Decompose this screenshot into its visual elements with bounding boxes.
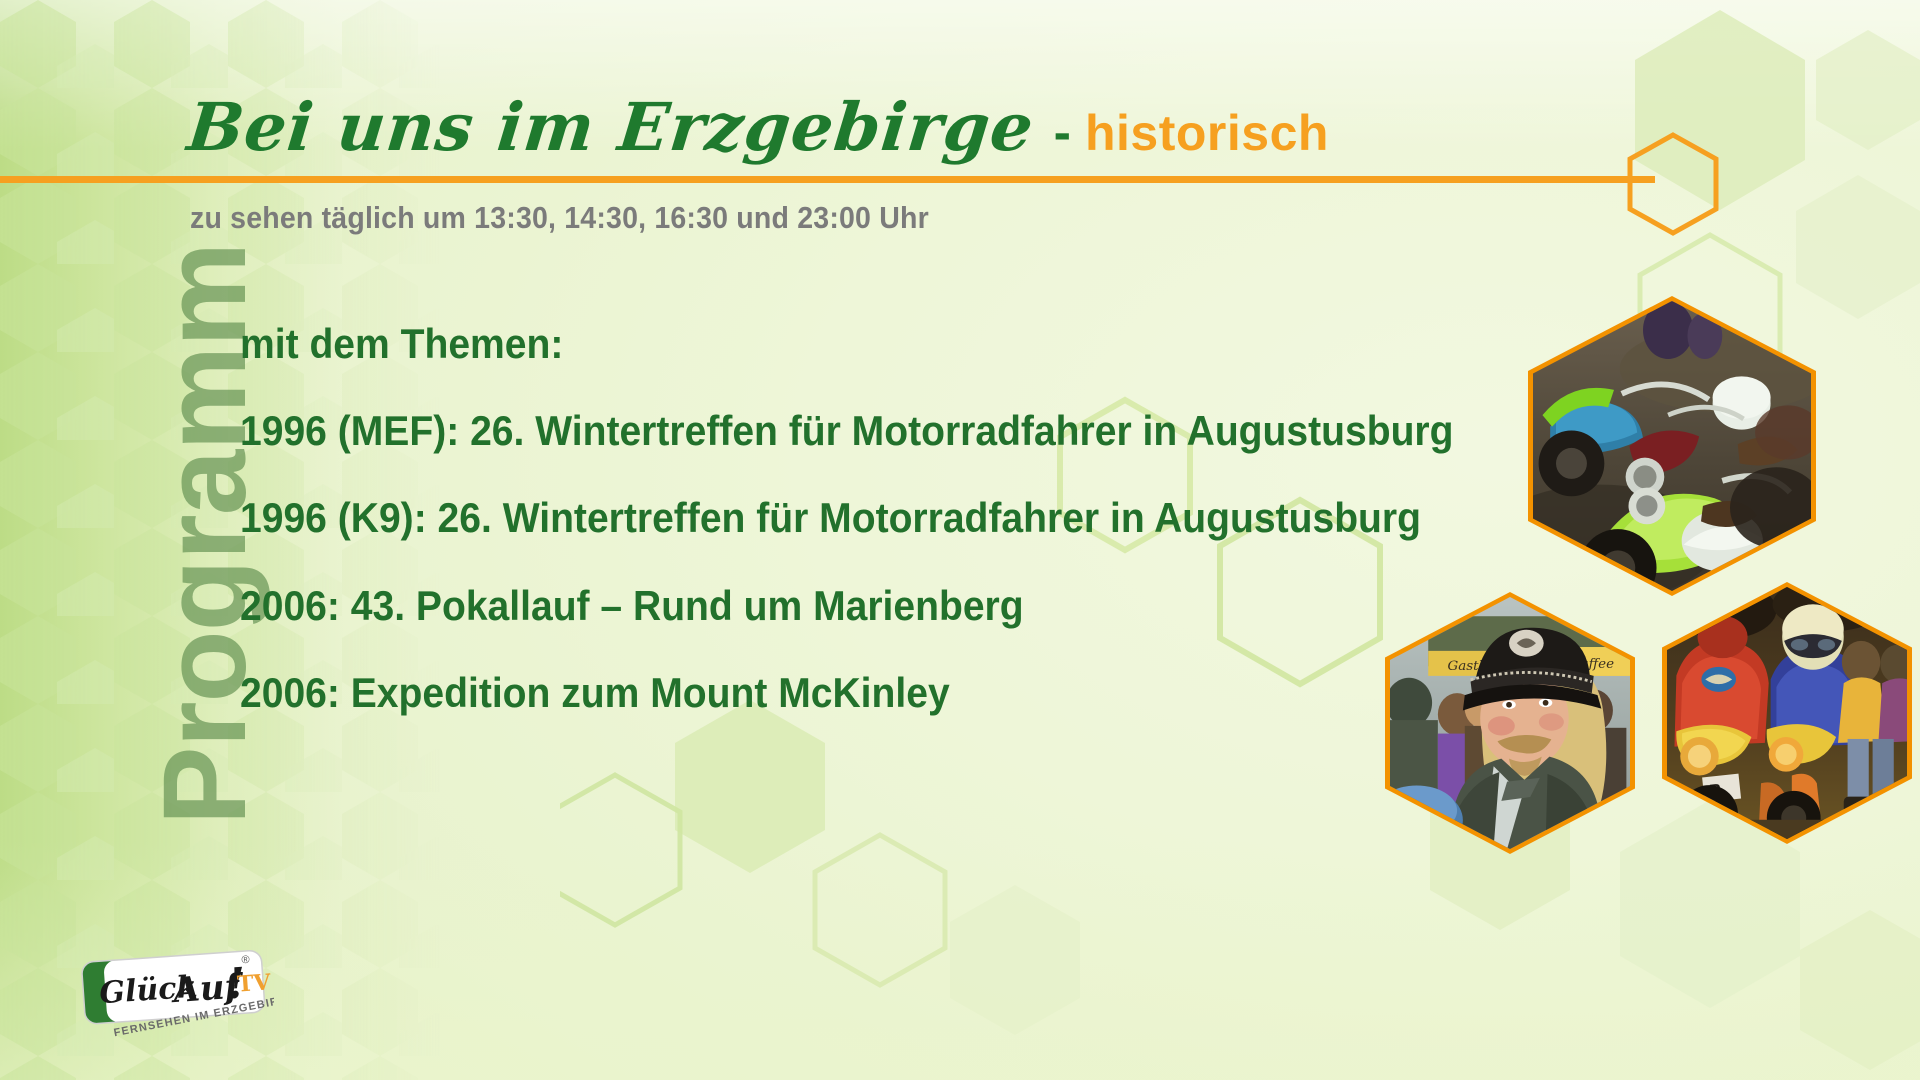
- topics-block: mit dem Themen: 1996 (MEF): 26. Wintertr…: [240, 320, 1545, 715]
- page-title: Bei uns im Erzgebirge - historisch: [188, 94, 1329, 160]
- broadcast-times-subtitle: zu sehen täglich um 13:30, 14:30, 16:30 …: [190, 200, 929, 236]
- glueckauf-tv-logo: Glück Auf ! TV ® FERNSEHEN IM ERZGEBIRGE: [78, 950, 274, 1046]
- header-hexagon-accent: [1627, 132, 1719, 236]
- logo-tv: TV: [236, 969, 272, 997]
- page-title-accent: historisch: [1085, 108, 1329, 158]
- header-divider-rule: [0, 176, 1655, 183]
- topic-item: 2006: 43. Pokallauf – Rund um Marienberg: [240, 583, 1454, 628]
- topic-item: 1996 (K9): 26. Wintertreffen für Motorra…: [240, 495, 1454, 540]
- background-bottom-gradient: [0, 840, 1920, 1080]
- vintage-mopeds-photo: [1528, 296, 1816, 596]
- photo-inner: [1533, 301, 1811, 591]
- topic-item: 2006: Expedition zum Mount McKinley: [240, 670, 1454, 715]
- topics-intro: mit dem Themen:: [240, 320, 1454, 368]
- slide-canvas: Bei uns im Erzgebirge - historisch zu se…: [0, 0, 1920, 1080]
- motorcycle-riders-photo: R: [1662, 582, 1912, 844]
- biker-portrait-photo: Gasthaus Kaffee: [1385, 592, 1635, 854]
- topic-item: 1996 (MEF): 26. Wintertreffen für Motorr…: [240, 408, 1454, 453]
- page-title-dash: -: [1034, 107, 1085, 159]
- photo-inner: Gasthaus Kaffee: [1390, 597, 1630, 849]
- photo-inner: R: [1667, 587, 1907, 839]
- logo-registered: ®: [241, 954, 250, 967]
- page-title-main: Bei uns im Erzgebirge: [185, 94, 1038, 160]
